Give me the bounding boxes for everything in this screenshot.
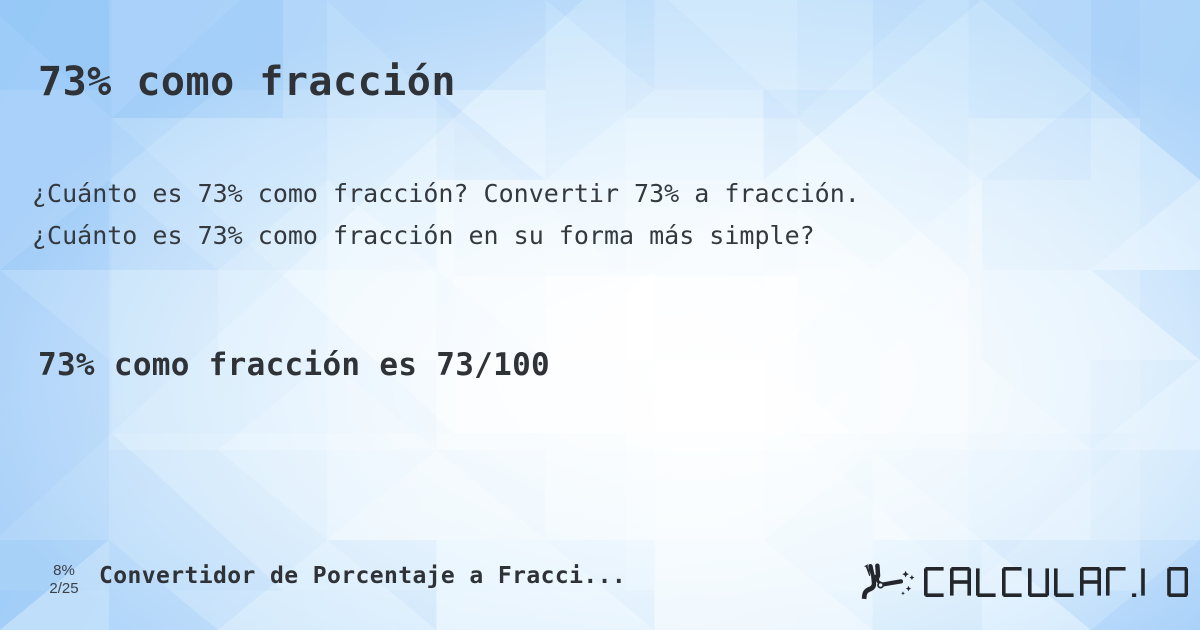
brand-logo[interactable] (856, 558, 1188, 606)
og-image-canvas: 73% como fracción ¿Cuánto es 73% como fr… (0, 0, 1200, 630)
page-title: 73% como fracción (38, 59, 456, 105)
intro-line-1: ¿Cuánto es 73% como fracción? Convertir … (32, 173, 860, 215)
content-layer: 73% como fracción ¿Cuánto es 73% como fr… (0, 0, 1200, 630)
badge-fraction: 2/25 (41, 580, 87, 598)
footer: 8% 2/25 Convertidor de Porcentaje a Frac… (0, 558, 1200, 614)
footer-tool-name: Convertidor de Porcentaje a Fracci... (99, 563, 626, 589)
brand-wordmark (924, 567, 1188, 597)
intro-paragraph: ¿Cuánto es 73% como fracción? Convertir … (32, 173, 860, 257)
answer-statement: 73% como fracción es 73/100 (38, 347, 550, 383)
badge-percent: 8% (41, 562, 87, 580)
intro-line-2: ¿Cuánto es 73% como fracción en su forma… (32, 215, 860, 257)
footer-example-badge: 8% 2/25 (41, 562, 87, 598)
magic-wand-hand-icon (856, 560, 916, 604)
